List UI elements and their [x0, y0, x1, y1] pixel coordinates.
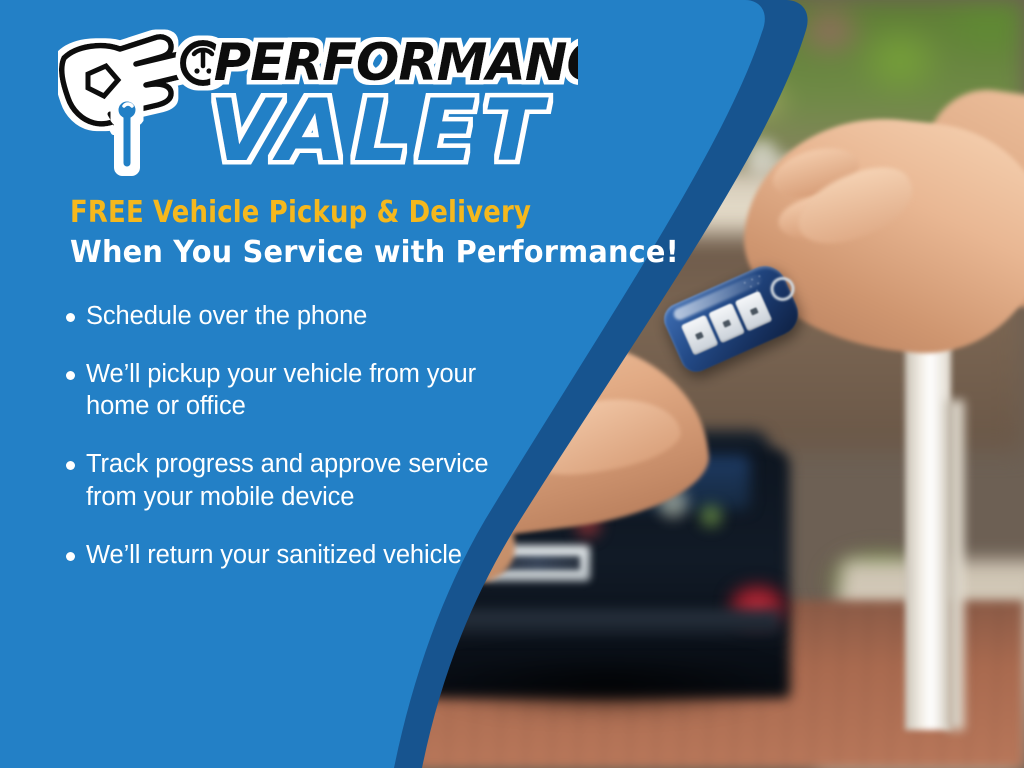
bullet-dot-icon: [66, 552, 75, 561]
bullet-dot-icon: [66, 461, 75, 470]
headline-line-2: When You Service with Performance!: [70, 236, 665, 271]
benefits-list: Schedule over the phone We’ll pickup you…: [66, 300, 536, 597]
bullet-text: Schedule over the phone: [86, 300, 367, 332]
list-item: Schedule over the phone: [66, 300, 536, 332]
suv-bumper: [435, 610, 780, 636]
list-item: We’ll pickup your vehicle from your home…: [66, 358, 536, 422]
performance-valet-logo: PERFORMANCE VALET: [58, 22, 578, 187]
bullet-dot-icon: [66, 313, 75, 322]
svg-text:VALET: VALET: [209, 81, 550, 181]
headline-block: FREE Vehicle Pickup & Delivery When You …: [70, 196, 690, 271]
bullet-text: We’ll return your sanitized vehicle: [86, 539, 462, 571]
white-porch-post: [905, 330, 951, 730]
logo-wordmark-bottom: VALET: [209, 81, 550, 181]
suv-shadow: [425, 655, 790, 715]
bokeh-light: [700, 505, 722, 527]
key-icon: [116, 99, 138, 169]
list-item: Track progress and approve service from …: [66, 448, 536, 512]
bullet-dot-icon: [66, 371, 75, 380]
bullet-text: We’ll pickup your vehicle from your home…: [86, 358, 536, 422]
secondary-post: [946, 400, 964, 730]
bullet-text: Track progress and approve service from …: [86, 448, 536, 512]
list-item: We’ll return your sanitized vehicle: [66, 539, 536, 571]
headline-line-1: FREE Vehicle Pickup & Delivery: [70, 196, 665, 231]
performance-valet-banner: PERFORMANCE VALET FREE Vehicle Pickup & …: [0, 0, 1024, 768]
